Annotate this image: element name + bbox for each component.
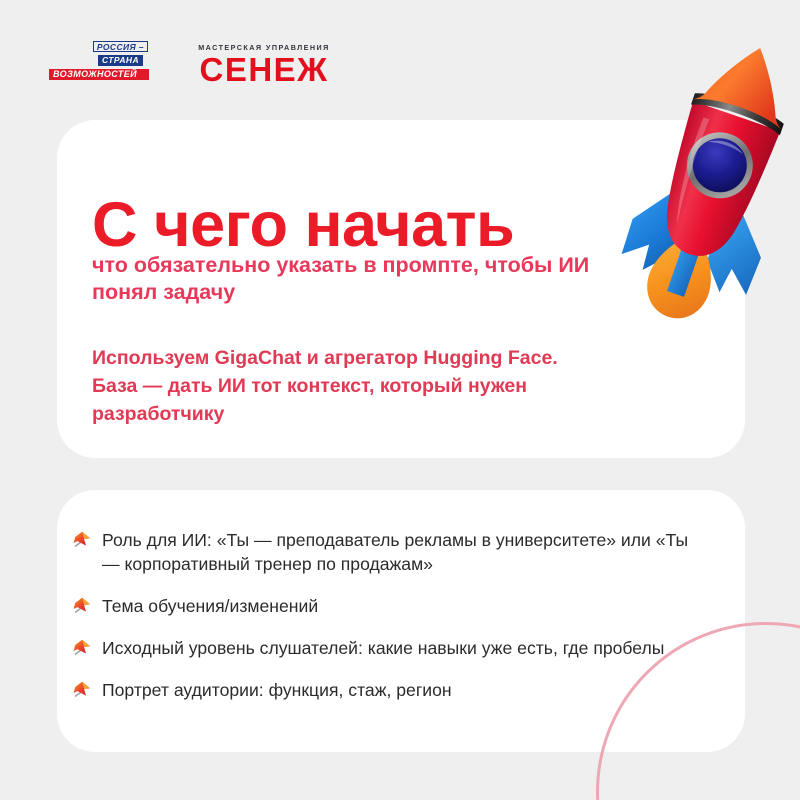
lead-line: разработчику <box>92 400 672 428</box>
logo-rossiya-strana-vozmozhnostey: РОССИЯ – СТРАНА ВОЗМОЖНОСТЕЙ <box>53 41 149 85</box>
list-item: Роль для ИИ: «Ты — преподаватель рекламы… <box>72 528 702 576</box>
pushpin-icon <box>72 680 92 702</box>
rsv-line-3: ВОЗМОЖНОСТЕЙ <box>49 69 149 80</box>
pushpin-icon <box>72 638 92 660</box>
lead-paragraph: Используем GigaChat и агрегатор Hugging … <box>92 344 672 428</box>
pushpin-icon <box>72 530 92 552</box>
pushpin-icon <box>72 596 92 618</box>
list-item-text: Роль для ИИ: «Ты — преподаватель рекламы… <box>102 528 702 576</box>
bullet-line: Исходный уровень слушателей: какие навык… <box>102 638 558 658</box>
list-item-text: Портрет аудитории: функция, стаж, регион <box>102 678 452 702</box>
bullet-list: Роль для ИИ: «Ты — преподаватель рекламы… <box>72 528 702 702</box>
list-item-text: Тема обучения/изменений <box>102 594 318 618</box>
list-item: Портрет аудитории: функция, стаж, регион <box>72 678 702 702</box>
bullet-line: по продажам» <box>317 554 433 574</box>
lead-line: База — дать ИИ тот контекст, который нуж… <box>92 372 672 400</box>
subtitle-line: что обязательно указать в промпте, <box>92 253 479 277</box>
bullet-line: Портрет аудитории: функция, стаж, регион <box>102 680 452 700</box>
page-subtitle: что обязательно указать в промпте, чтобы… <box>92 252 632 306</box>
bullet-line: Роль для ИИ: «Ты — преподаватель рекламы <box>102 530 477 550</box>
senezh-brand: СЕНЕЖ <box>191 53 337 87</box>
bullet-line: Тема обучения/изменений <box>102 596 318 616</box>
page-title: С чего начать <box>92 190 514 260</box>
rsv-line-1: РОССИЯ – <box>93 41 148 52</box>
rsv-line-2: СТРАНА <box>98 55 143 66</box>
lead-line: Используем GigaChat и агрегатор Hugging … <box>92 344 672 372</box>
list-item: Исходный уровень слушателей: какие навык… <box>72 636 702 660</box>
list-item-text: Исходный уровень слушателей: какие навык… <box>102 636 664 660</box>
logo-senezh: МАСТЕРСКАЯ УПРАВЛЕНИЯ СЕНЕЖ <box>191 43 337 87</box>
list-item: Тема обучения/изменений <box>72 594 702 618</box>
poster-canvas: РОССИЯ – СТРАНА ВОЗМОЖНОСТЕЙ МАСТЕРСКАЯ … <box>0 0 800 800</box>
bullet-line: где пробелы <box>563 638 665 658</box>
logo-bar: РОССИЯ – СТРАНА ВОЗМОЖНОСТЕЙ МАСТЕРСКАЯ … <box>0 0 800 110</box>
